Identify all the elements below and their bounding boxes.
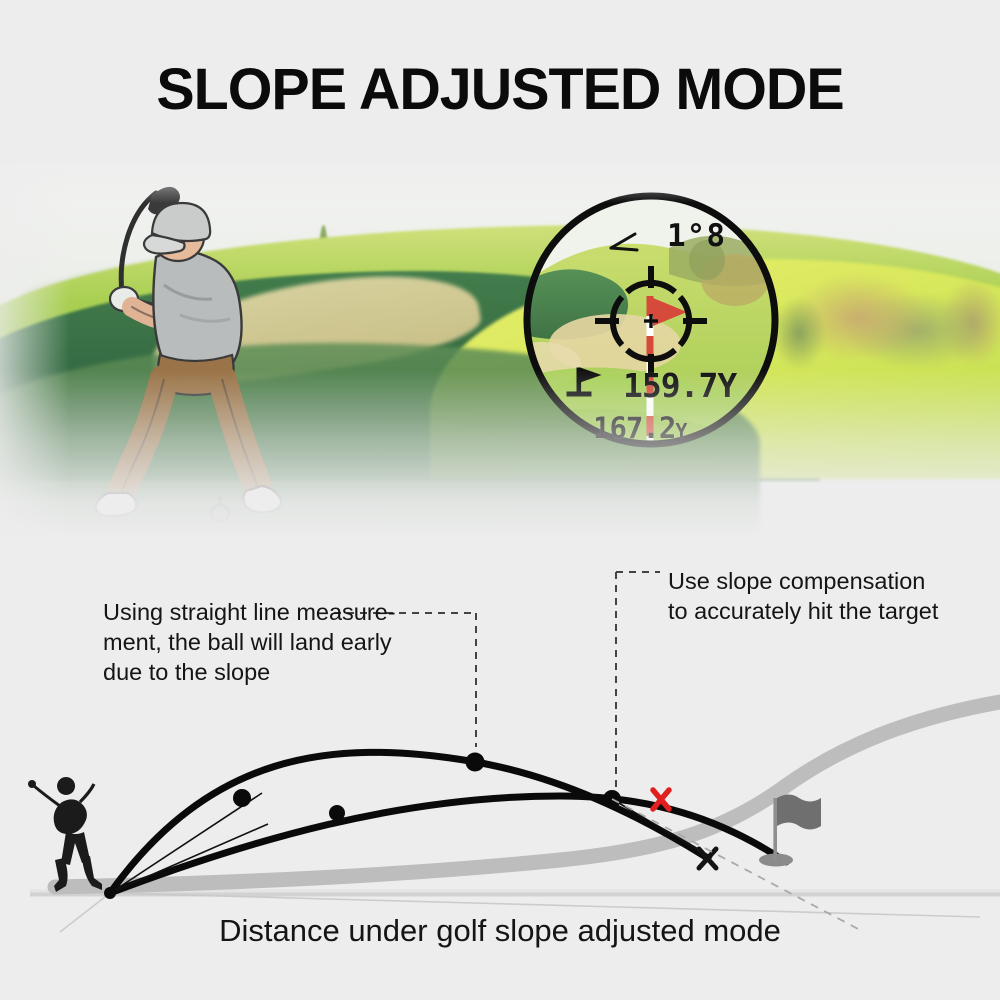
page-root: SLOPE ADJUSTED MODE: [0, 0, 1000, 1000]
diagram-caption: Distance under golf slope adjusted mode: [0, 913, 1000, 949]
page-title: SLOPE ADJUSTED MODE: [5, 56, 995, 123]
tee-point-marker: [104, 887, 116, 899]
black-x-marker: [699, 849, 716, 868]
annotation-straight-line: Using straight line measure- ment, the b…: [103, 597, 433, 687]
golfer-silhouette-icon: [28, 777, 102, 892]
trajectory-marker-dot: [329, 805, 345, 821]
annotation-slope-compensation: Use slope compensation to accurately hit…: [668, 566, 988, 626]
right-treeline-layer: [760, 255, 1000, 385]
photo-bottom-fade: [0, 370, 1000, 540]
photo-top-fade: [0, 163, 1000, 203]
right-leader-line: [616, 572, 660, 788]
hero-photo: 1°8 159.7Y 167.2Y: [0, 163, 1000, 540]
hero-photo-scene: 1°8 159.7Y 167.2Y: [0, 163, 1000, 540]
trajectory-marker-dot: [466, 753, 485, 772]
trajectory-marker-dot: [233, 789, 251, 807]
